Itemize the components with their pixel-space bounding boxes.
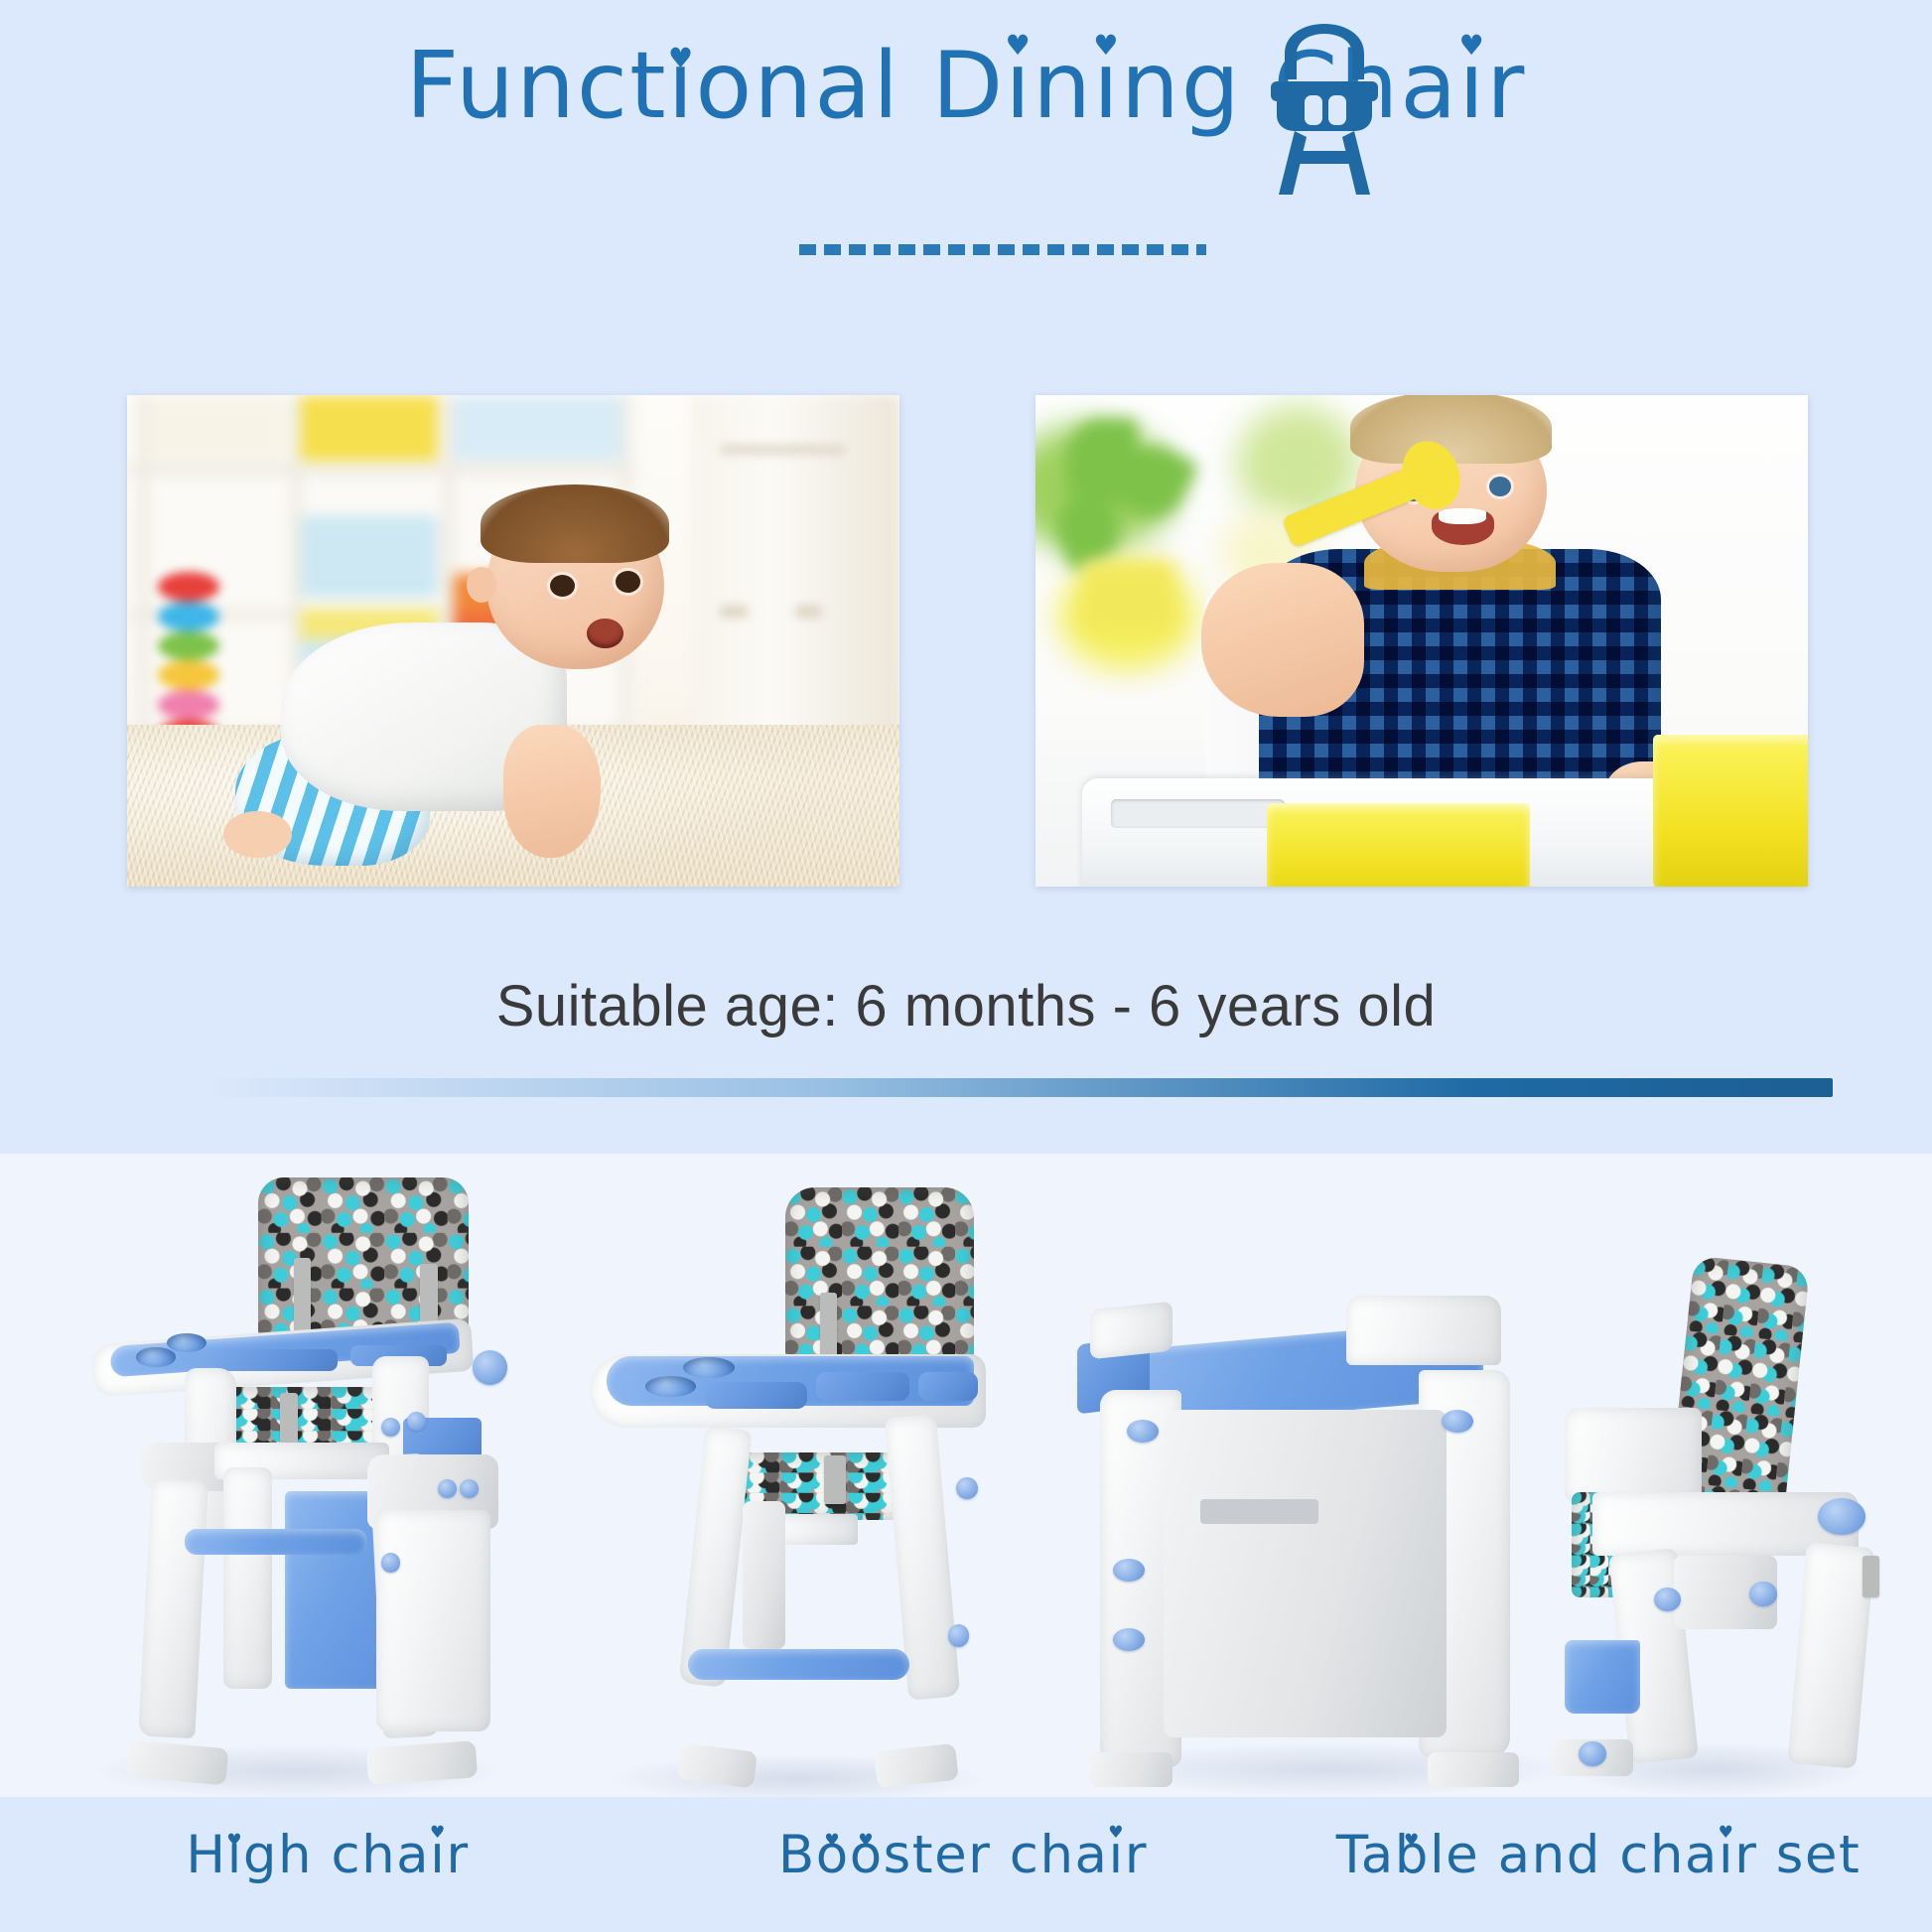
booster-footrest-bar (688, 1649, 910, 1680)
chair-knob-1 (1654, 1587, 1682, 1611)
booster-compartment-3 (918, 1372, 978, 1401)
baby-eye-left (550, 575, 575, 597)
label-booster-chair: Booster chair Bo♥o♥ster chaı♥r (655, 1825, 1271, 1885)
frame-knob-1 (381, 1418, 400, 1437)
booster-cup-holder-2 (645, 1376, 697, 1397)
chair-backrest-shell (1565, 1408, 1702, 1502)
label-table-and-chair-set: Table and chair set Tab♥le and chaı♥r se… (1291, 1825, 1906, 1885)
chair-knob-3 (1579, 1741, 1606, 1765)
product-booster-chair (581, 1181, 1008, 1797)
product-labels: High chair Hı♥gh chaı♥r Booster chair Bo… (0, 1825, 1932, 1904)
yellow-cup (1653, 735, 1808, 887)
booster-knob-2 (948, 1624, 970, 1646)
toddler-mouth (1432, 508, 1494, 544)
page-title: Functional Dining Chair Functı♥onal Dı♥n… (0, 34, 1932, 137)
baby-arm (503, 725, 601, 859)
table-slot (1200, 1499, 1318, 1524)
baby-crawling (235, 488, 807, 882)
cup-holder-2 (136, 1347, 176, 1366)
table-corner-cap (1090, 1302, 1173, 1360)
right-panel (376, 1510, 489, 1731)
chair-knob-2 (1749, 1582, 1777, 1605)
inner-left-leg (223, 1467, 271, 1689)
tray-release-knob (473, 1350, 507, 1385)
chair-blue-footrest (1565, 1640, 1640, 1714)
header: Functional Dining Chair Functı♥onal Dı♥n… (0, 34, 1932, 198)
table (1072, 1291, 1528, 1787)
photo-toddler-eating (1035, 395, 1808, 887)
cup-holder-1 (167, 1333, 207, 1352)
kitchen-background (1035, 395, 1808, 887)
baby-mouth (587, 619, 623, 648)
infographic-page: Functional Dining Chair Functı♥onal Dı♥n… (0, 0, 1932, 1932)
front-left-leg (138, 1478, 208, 1739)
table-body-panel (1164, 1410, 1447, 1737)
chair-brand-badge (1818, 1498, 1865, 1535)
chair (1545, 1261, 1886, 1787)
booster-knob-1 (956, 1477, 978, 1499)
label-high-chair: High chair Hı♥gh chaı♥r (20, 1825, 635, 1885)
yellow-bowl (1267, 803, 1530, 887)
baby-hair (481, 484, 669, 563)
gradient-divider-bar (208, 1078, 1833, 1097)
toddler-arm (1201, 563, 1364, 717)
booster-compartment-1 (705, 1382, 807, 1409)
photo-baby-crawling (127, 395, 899, 887)
baby-ear (467, 567, 496, 603)
table-back-rim (1346, 1296, 1501, 1365)
footrest-bar (185, 1529, 368, 1555)
product-high-chair (79, 1172, 516, 1787)
nursery-background (127, 395, 899, 887)
table-foot-right (1428, 1752, 1519, 1787)
suitable-age-note: Suitable age: 6 months - 6 years old (0, 973, 1932, 1039)
table-foot-left (1090, 1752, 1173, 1787)
dashed-divider (799, 244, 1206, 255)
plant-pot (1082, 562, 1174, 630)
tray-compartment-1 (214, 1349, 337, 1371)
hero-section: Functional Dining Chair Functı♥onal Dı♥n… (0, 0, 1932, 1154)
foot-right (366, 1740, 478, 1785)
photo-row (0, 395, 1932, 887)
product-table-and-chair-set (1072, 1291, 1886, 1787)
table-knob-1 (1127, 1420, 1159, 1443)
tray-slot (1111, 799, 1286, 828)
booster-compartment-2 (816, 1372, 910, 1401)
table-knob-2 (1442, 1410, 1473, 1433)
frame-knob-3 (381, 1553, 400, 1572)
high-chair-icon (1261, 20, 1388, 195)
booster-center-post (743, 1501, 785, 1649)
